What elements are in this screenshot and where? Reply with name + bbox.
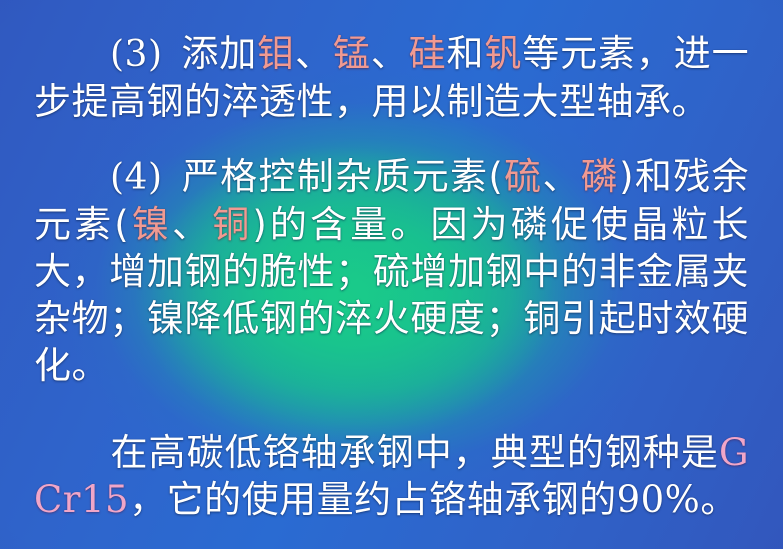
highlighted-element-term: 硫 bbox=[503, 155, 542, 198]
text-run: 、 bbox=[542, 155, 580, 198]
text-run: 在高碳低铬轴承钢中，典型的钢种是 bbox=[110, 431, 719, 474]
highlighted-element-term: 镍 bbox=[129, 203, 172, 246]
text-run: 严格控制杂质元素( bbox=[181, 155, 503, 198]
text-run: 、 bbox=[295, 32, 333, 75]
paragraph-number: (3) bbox=[110, 34, 181, 75]
highlighted-element-term: 磷 bbox=[581, 155, 619, 198]
highlighted-element-term: 钒 bbox=[484, 32, 522, 75]
paragraph-conclusion: 在高碳低铬轴承钢中，典型的钢种是GCr15，它的使用量约占铬轴承钢的90%。 bbox=[34, 429, 749, 523]
paragraph-4: (4) 严格控制杂质元素(硫、磷)和残余元素(镍、铜)的含量。因为磷促使晶粒长大… bbox=[34, 153, 749, 389]
highlighted-element-term: 硅 bbox=[409, 32, 447, 75]
paragraph-number: (4) bbox=[110, 157, 181, 198]
highlighted-element-term: 铜 bbox=[212, 203, 252, 246]
text-run: 和 bbox=[446, 32, 484, 75]
highlighted-element-term: 钼 bbox=[257, 32, 295, 75]
text-run: 。 bbox=[700, 478, 738, 521]
text-run: 、 bbox=[172, 203, 212, 246]
slide-canvas: (3) 添加钼、锰、硅和钒等元素，进一步提高钢的淬透性，用以制造大型轴承。 (4… bbox=[0, 0, 783, 549]
text-run: ，它的使用量约占铬轴承钢的 bbox=[129, 478, 617, 521]
percentage-value: 90% bbox=[617, 478, 701, 521]
text-run: 添加 bbox=[181, 32, 257, 75]
paragraph-3: (3) 添加钼、锰、硅和钒等元素，进一步提高钢的淬透性，用以制造大型轴承。 bbox=[34, 30, 749, 125]
highlighted-element-term: 锰 bbox=[333, 32, 371, 75]
slide-text-content: (3) 添加钼、锰、硅和钒等元素，进一步提高钢的淬透性，用以制造大型轴承。 (4… bbox=[0, 0, 783, 549]
text-run: 、 bbox=[371, 32, 409, 75]
